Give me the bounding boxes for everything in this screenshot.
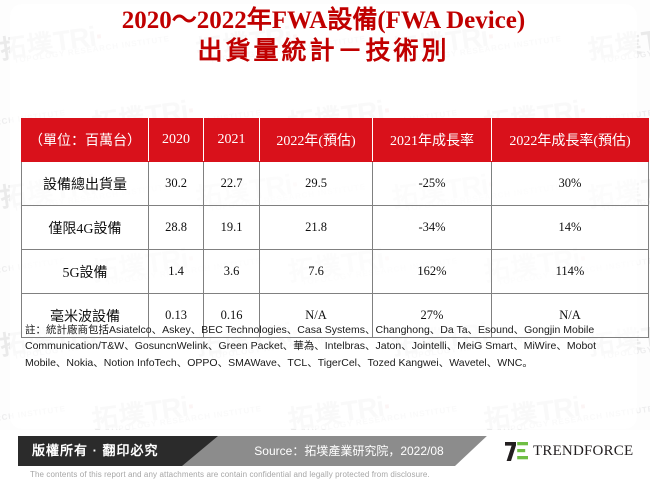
fwa-shipment-table: （單位：百萬台） 2020 2021 2022年(預估) 2021年成長率 20… [21, 118, 649, 338]
table-row: 設備總出貨量 30.2 22.7 29.5 -25% 30% [22, 162, 649, 206]
column-header-2022e: 2022年(預估) [260, 119, 373, 162]
cell-growth-2021: 162% [373, 250, 492, 294]
table-header-row: （單位：百萬台） 2020 2021 2022年(預估) 2021年成長率 20… [22, 119, 649, 162]
table-row: 5G設備 1.4 3.6 7.6 162% 114% [22, 250, 649, 294]
cell-2020: 1.4 [149, 250, 204, 294]
title-line-2: 出貨量統計－技術別 [10, 37, 637, 68]
cell-2021: 22.7 [204, 162, 260, 206]
column-header-unit: （單位：百萬台） [22, 119, 149, 162]
row-label: 僅限4G設備 [22, 206, 149, 250]
page-title: 2020～2022年FWA設備(FWA Device) 出貨量統計－技術別 [10, 6, 637, 67]
cell-2022e: 29.5 [260, 162, 373, 206]
column-header-2021: 2021 [204, 119, 260, 162]
watermark-text: 拓墣TRi· [0, 237, 3, 288]
cell-growth-2022e: 114% [492, 250, 649, 294]
title-line-1: 2020～2022年FWA設備(FWA Device) [10, 6, 637, 37]
cell-growth-2022e: 14% [492, 206, 649, 250]
footnote-text: 註：統計廠商包括Asiatelco、Askey、BEC Technologies… [25, 322, 630, 371]
row-label: 5G設備 [22, 250, 149, 294]
cell-2021: 19.1 [204, 206, 260, 250]
cell-2020: 28.8 [149, 206, 204, 250]
watermark-text: 拓墣TRi· [0, 89, 3, 140]
cell-2020: 30.2 [149, 162, 204, 206]
disclaimer-text: The contents of this report and any atta… [30, 470, 620, 479]
column-header-2020: 2020 [149, 119, 204, 162]
trendforce-mark-icon [505, 442, 528, 461]
cell-growth-2021: -34% [373, 206, 492, 250]
cell-2022e: 7.6 [260, 250, 373, 294]
source-notice: Source：拓墣產業研究院，2022/08 [218, 436, 480, 466]
copyright-notice: 版權所有 · 翻印必究 [32, 436, 159, 466]
cell-2021: 3.6 [204, 250, 260, 294]
cell-growth-2022e: 30% [492, 162, 649, 206]
column-header-growth-2021: 2021年成長率 [373, 119, 492, 162]
trendforce-wordmark: TRENDFORCE [533, 443, 633, 460]
row-label: 設備總出貨量 [22, 162, 149, 206]
cell-growth-2021: -25% [373, 162, 492, 206]
column-header-growth-2022e: 2022年成長率(預估) [492, 119, 649, 162]
page-footer: 版權所有 · 翻印必究 Source：拓墣產業研究院，2022/08 TREND… [0, 430, 650, 485]
table-row: 僅限4G設備 28.8 19.1 21.8 -34% 14% [22, 206, 649, 250]
cell-2022e: 21.8 [260, 206, 373, 250]
trendforce-logo: TRENDFORCE [505, 440, 633, 462]
